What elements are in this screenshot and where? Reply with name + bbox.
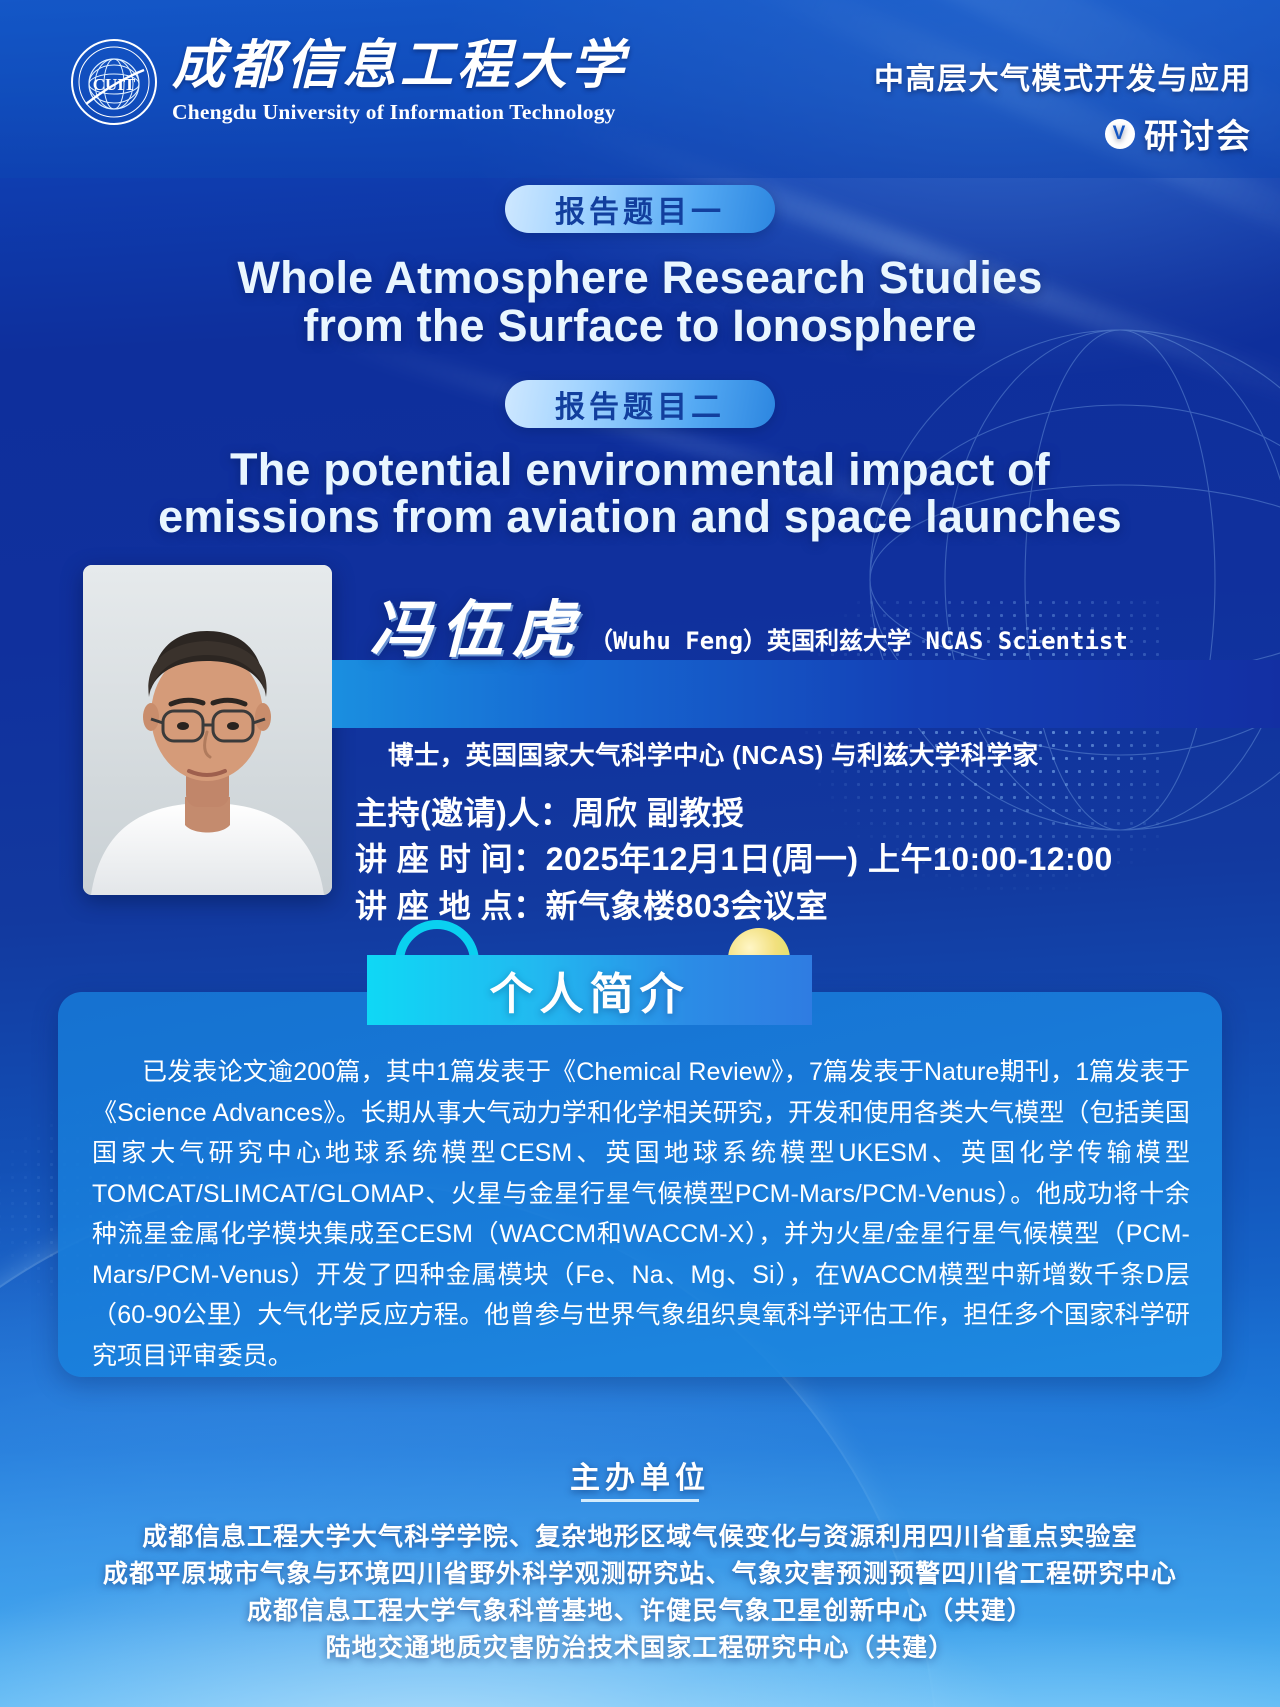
talk-2-title-line2: emissions from aviation and space launch…	[0, 491, 1280, 543]
university-logo: CUIT 成都信息工程大学 Chengdu University of Info…	[70, 38, 628, 126]
talk-2-title-line1: The potential environmental impact of	[0, 444, 1280, 496]
talk-2-pill-label: 报告题目二	[555, 382, 725, 426]
poster-root: CUIT 成都信息工程大学 Chengdu University of Info…	[0, 0, 1280, 1707]
poster-footer: 主办单位 成都信息工程大学大气科学学院、复杂地形区域气候变化与资源利用四川省重点…	[0, 1437, 1280, 1707]
bio-paragraph: 已发表论文逾200篇，其中1篇发表于《Chemical Review》，7篇发表…	[92, 1052, 1190, 1376]
talk-1-pill-label: 报告题目一	[555, 187, 725, 231]
host-title-underline	[581, 1499, 699, 1502]
event-title-line1: 中高层大气模式开发与应用	[874, 62, 1252, 98]
meta-location-row: 讲 座 地 点：新气象楼803会议室	[355, 883, 1280, 929]
bio-banner-label: 个人简介	[490, 958, 690, 1022]
meta-host-row: 主持(邀请)人：周欣 副教授	[355, 790, 1280, 836]
cuit-seal-label: CUIT	[93, 75, 136, 94]
university-name-en: Chengdu University of Information Techno…	[172, 102, 628, 124]
host-org-line-1: 成都信息工程大学大气科学学院、复杂地形区域气候变化与资源利用四川省重点实验室	[0, 1519, 1280, 1556]
host-org-line-2: 成都平原城市气象与环境四川省野外科学观测研究站、气象灾害预测预警四川省工程研究中…	[0, 1556, 1280, 1593]
speaker-name-block: 冯伍虎 （Wuhu Feng）英国利兹大学 NCAS Scientist	[370, 600, 1270, 662]
host-org-line-4: 陆地交通地质灾害防治技术国家工程研究中心（共建）	[0, 1630, 1280, 1667]
speaker-photo	[83, 565, 332, 895]
meta-time-row: 讲 座 时 间：2025年12月1日(周一) 上午10:00-12:00	[355, 836, 1280, 882]
speaker-affiliation-inline: （Wuhu Feng）英国利兹大学 NCAS Scientist	[589, 621, 1128, 662]
event-title-block: 中高层大气模式开发与应用 V 研讨会	[874, 62, 1252, 158]
talk-1-title-line1: Whole Atmosphere Research Studies	[0, 252, 1280, 304]
event-title-line2: 研讨会	[1144, 109, 1252, 158]
speaker-name-bar	[332, 660, 1280, 728]
host-org-line-3: 成都信息工程大学气象科普基地、许健民气象卫星创新中心（共建）	[0, 1593, 1280, 1630]
event-title-line2-wrap: V 研讨会	[874, 109, 1252, 158]
talk-1-title-line2: from the Surface to Ionosphere	[0, 300, 1280, 352]
talk-2-pill: 报告题目二	[505, 380, 775, 428]
talk-1-pill: 报告题目一	[505, 185, 775, 233]
bio-banner: 个人简介	[367, 955, 812, 1025]
v-mark-icon: V	[1105, 119, 1135, 149]
university-name-cn: 成都信息工程大学	[172, 40, 628, 93]
cuit-seal-icon: CUIT	[70, 38, 158, 126]
globe-wireframe-decor	[840, 300, 1280, 860]
event-meta-block: 主持(邀请)人：周欣 副教授 讲 座 时 间：2025年12月1日(周一) 上午…	[355, 790, 1280, 929]
host-organizations-list: 成都信息工程大学大气科学学院、复杂地形区域气候变化与资源利用四川省重点实验室 成…	[0, 1519, 1280, 1667]
poster-header: CUIT 成都信息工程大学 Chengdu University of Info…	[0, 0, 1280, 178]
speaker-name-cn: 冯伍虎	[370, 600, 583, 662]
host-section-title: 主办单位	[0, 1453, 1280, 1497]
speaker-subtitle: 博士，英国国家大气科学中心 (NCAS) 与利兹大学科学家	[388, 735, 1268, 772]
